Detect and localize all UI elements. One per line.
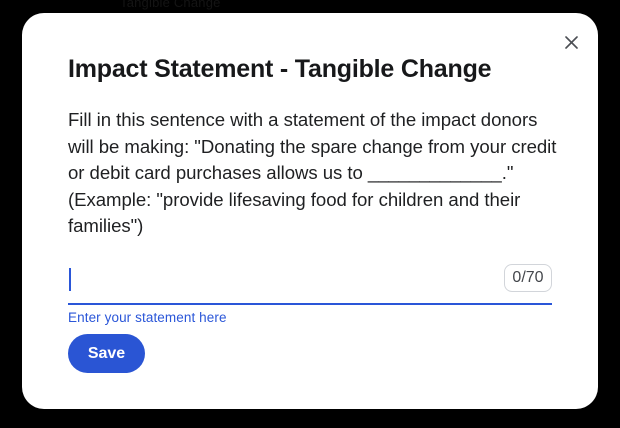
backdrop-clipped-text: Tangible Change — [120, 0, 320, 11]
text-caret — [69, 268, 71, 291]
save-button[interactable]: Save — [68, 334, 145, 373]
impact-statement-dialog: Impact Statement - Tangible Change Fill … — [22, 13, 598, 409]
backdrop-clipped-text-label: Tangible Change — [120, 0, 320, 11]
character-counter: 0/70 — [504, 264, 552, 292]
page-title: Impact Statement - Tangible Change — [68, 55, 491, 84]
close-icon[interactable] — [558, 29, 584, 55]
input-underline — [68, 303, 552, 305]
dialog-description: Fill in this sentence with a statement o… — [68, 107, 558, 240]
statement-input[interactable] — [68, 260, 508, 298]
helper-text: Enter your statement here — [68, 310, 227, 325]
statement-field-row: 0/70 — [68, 260, 552, 300]
